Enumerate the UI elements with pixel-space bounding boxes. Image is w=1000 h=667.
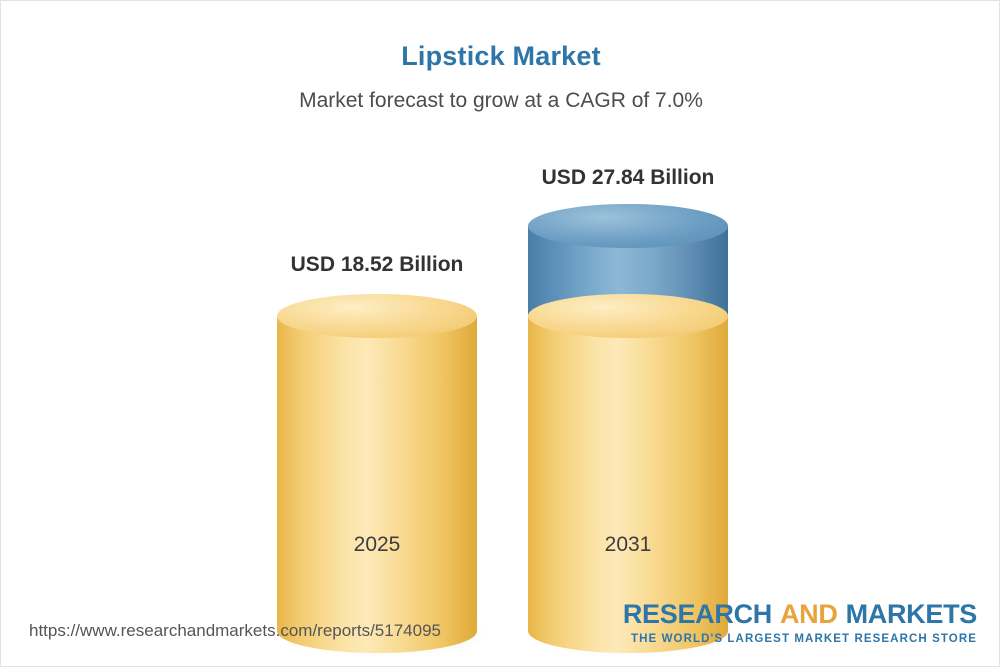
source-url[interactable]: https://www.researchandmarkets.com/repor…	[29, 621, 441, 641]
research-and-markets-logo[interactable]: RESEARCHANDMARKETS THE WORLD'S LARGEST M…	[623, 599, 977, 645]
logo-and-text: AND	[780, 599, 838, 629]
bar-divider-2031	[528, 294, 728, 338]
bar-body-2025	[277, 316, 477, 631]
logo-markets-text: MARKETS	[846, 599, 977, 629]
chart-page: Lipstick Market Market forecast to grow …	[0, 0, 1000, 667]
category-label-2025: 2025	[277, 533, 477, 557]
bar-group-2031: USD 27.84 Billion 2031	[528, 151, 728, 571]
bar-top-2025	[277, 294, 477, 338]
category-label-2031: 2031	[528, 533, 728, 557]
bar-top-2031	[528, 204, 728, 248]
cylinder-bar-chart: USD 18.52 Billion 2025 USD 27.84 Billion	[1, 1, 1000, 667]
bar-cylinder-2031	[528, 151, 728, 571]
bar-cylinder-2025	[277, 151, 477, 571]
logo-tagline: THE WORLD'S LARGEST MARKET RESEARCH STOR…	[623, 633, 977, 645]
logo-research-text: RESEARCH	[623, 599, 772, 629]
logo-wordmark: RESEARCHANDMARKETS	[623, 599, 977, 630]
bar-body-lower-2031	[528, 316, 728, 631]
bar-group-2025: USD 18.52 Billion 2025	[277, 151, 477, 571]
